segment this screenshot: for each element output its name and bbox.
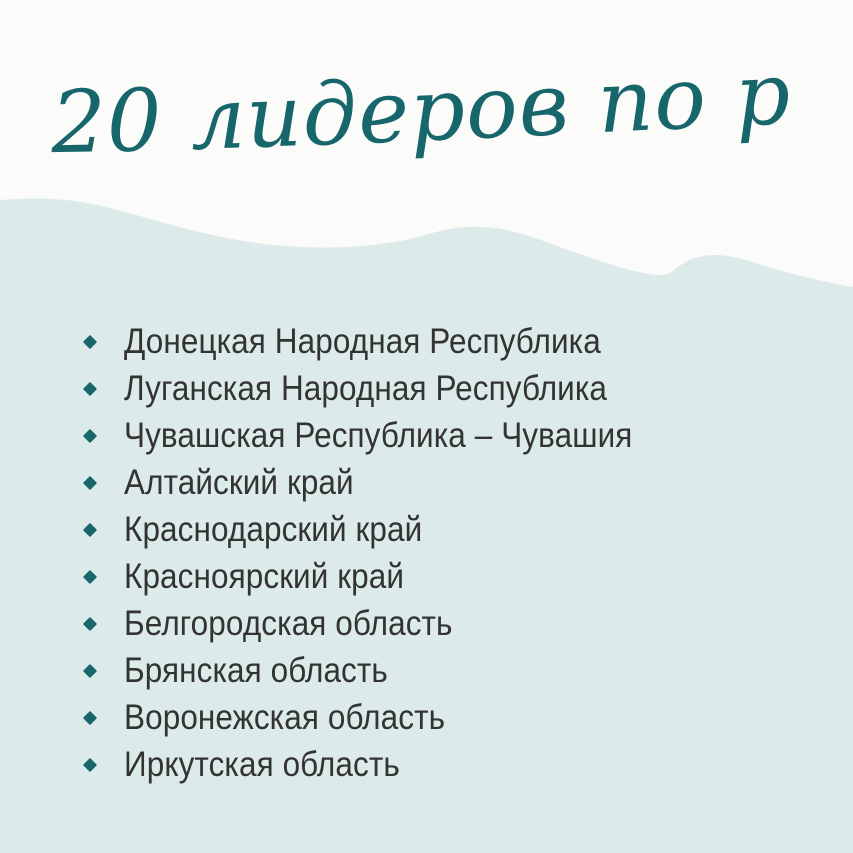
diamond-bullet-icon [83, 663, 97, 677]
diamond-bullet-icon [83, 428, 97, 442]
diamond-bullet-icon [83, 334, 97, 348]
list-item-label: Чувашская Республика – Чувашия [124, 418, 632, 453]
list-item-label: Краснодарский край [124, 512, 422, 547]
diamond-bullet-icon [83, 710, 97, 724]
list-item[interactable]: Чувашская Республика – Чувашия [0, 412, 853, 459]
list-item-label: Белгородская область [124, 606, 453, 641]
list-item-label: Иркутская область [124, 747, 400, 782]
region-list: Донецкая Народная Республика Луганская Н… [0, 318, 853, 788]
diamond-bullet-icon [83, 522, 97, 536]
diamond-bullet-icon [83, 569, 97, 583]
list-item[interactable]: Красноярский край [0, 553, 853, 600]
diamond-bullet-icon [83, 757, 97, 771]
list-item[interactable]: Воронежская область [0, 694, 853, 741]
list-item-label: Луганская Народная Республика [124, 371, 607, 406]
page-title-graphic: 20 лидеров по реализации [0, 0, 853, 205]
list-item-label: Брянская область [124, 653, 388, 688]
list-item-label: Воронежская область [124, 700, 445, 735]
list-item[interactable]: Луганская Народная Республика [0, 365, 853, 412]
list-item-label: Алтайский край [124, 465, 354, 500]
diamond-bullet-icon [83, 616, 97, 630]
diamond-bullet-icon [83, 475, 97, 489]
diamond-bullet-icon [83, 381, 97, 395]
list-item[interactable]: Брянская область [0, 647, 853, 694]
list-item-label: Красноярский край [124, 559, 404, 594]
list-item-label: Донецкая Народная Республика [124, 324, 601, 359]
page-title: 20 лидеров по реализации [0, 0, 793, 173]
header: 20 лидеров по реализации [0, 0, 853, 205]
list-item[interactable]: Белгородская область [0, 600, 853, 647]
list-item[interactable]: Алтайский край [0, 459, 853, 506]
slide-canvas: 20 лидеров по реализации Донецкая Народн… [0, 0, 853, 853]
list-item[interactable]: Донецкая Народная Республика [0, 318, 853, 365]
list-item[interactable]: Краснодарский край [0, 506, 853, 553]
list-item[interactable]: Иркутская область [0, 741, 853, 788]
